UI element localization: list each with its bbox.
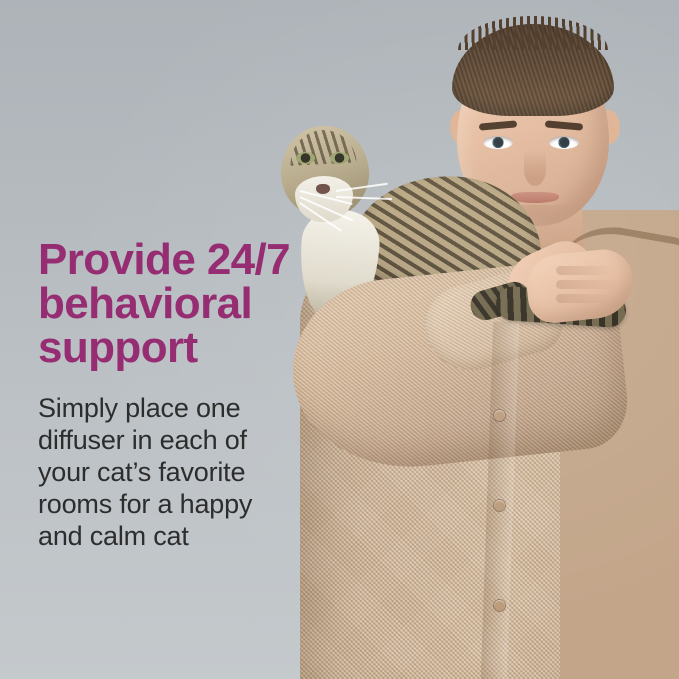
shirt-button [494,600,505,611]
mans-finger [556,280,618,289]
mans-right-pupil [560,138,569,147]
body-text: Simply place one diffuser in each of you… [38,392,338,552]
mans-mouth [511,192,559,203]
cat-right-ear [335,99,366,107]
cat-left-ear [281,100,312,109]
cat-right-eye [330,152,349,164]
cat-nose [316,184,330,194]
mans-hair [452,24,614,116]
ad-image-canvas: Provide 24/7 behavioral support Simply p… [0,0,679,679]
mans-left-pupil [494,138,503,147]
shirt-button [494,410,505,421]
marketing-copy-block: Provide 24/7 behavioral support Simply p… [38,238,338,552]
cat-left-eye [296,152,315,164]
mans-finger [556,294,612,303]
shirt-button [494,500,505,511]
mans-nose [524,150,546,186]
headline-text: Provide 24/7 behavioral support [38,238,338,370]
mans-finger [556,266,614,275]
